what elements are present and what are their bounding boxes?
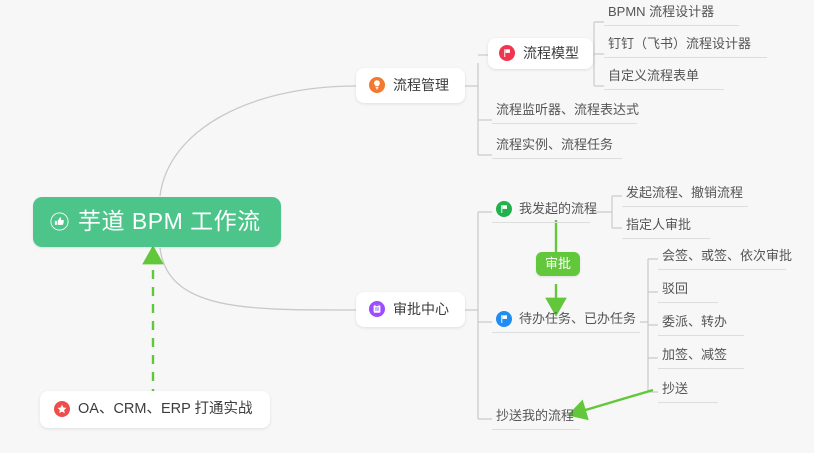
leaf-label: 抄送: [662, 382, 688, 395]
leaf-label: 指定人审批: [626, 218, 691, 231]
leaf-label: 驳回: [662, 282, 688, 295]
leaf-label: 加签、减签: [662, 348, 727, 361]
connector-root-to-branch1: [160, 86, 356, 196]
leaf-cc-to-me-processes[interactable]: 抄送我的流程: [492, 407, 580, 430]
leaf-countersign-orsign-sequential[interactable]: 会签、或签、依次审批: [658, 247, 786, 270]
leaf-listener-expression[interactable]: 流程监听器、流程表达式: [492, 101, 637, 124]
leaf-custom-process-form[interactable]: 自定义流程表单: [604, 67, 724, 90]
green-arrow-copy-to-myflow: [572, 390, 653, 414]
root-node[interactable]: 芋道 BPM 工作流: [33, 197, 281, 247]
leaf-label: 钉钉（飞书）流程设计器: [608, 37, 751, 50]
leaf-reject[interactable]: 驳回: [658, 280, 718, 303]
leaf-label: 流程监听器、流程表达式: [496, 103, 639, 116]
leaf-start-cancel-process[interactable]: 发起流程、撤销流程: [622, 184, 748, 207]
leaf-bpmn-designer[interactable]: BPMN 流程设计器: [604, 3, 739, 26]
lightbulb-icon: [369, 77, 385, 93]
leaf-dingtalk-feishu-designer[interactable]: 钉钉（飞书）流程设计器: [604, 35, 767, 58]
flag-icon: [499, 45, 515, 61]
star-icon: [54, 401, 70, 417]
branch-node-process-management[interactable]: 流程管理: [356, 68, 465, 103]
connector-root-to-branch2: [160, 248, 356, 310]
note-node-integration[interactable]: OA、CRM、ERP 打通实战: [40, 391, 270, 428]
node-label: 流程模型: [523, 46, 579, 60]
flag-icon: [496, 311, 512, 327]
thumbs-up-icon: [50, 212, 69, 231]
leaf-assigned-approver[interactable]: 指定人审批: [622, 216, 710, 239]
leaf-label: 委派、转办: [662, 315, 727, 328]
leaf-label: 会签、或签、依次审批: [662, 249, 792, 262]
leaf-cc[interactable]: 抄送: [658, 380, 718, 403]
node-label: 待办任务、已办任务: [519, 312, 636, 325]
node-todo-done-tasks[interactable]: 待办任务、已办任务: [492, 310, 640, 333]
node-process-model[interactable]: 流程模型: [488, 38, 593, 69]
branch-label: 流程管理: [393, 78, 449, 92]
leaf-add-remove-sign[interactable]: 加签、减签: [658, 346, 744, 369]
leaf-label: 自定义流程表单: [608, 69, 699, 82]
node-label: 我发起的流程: [519, 202, 597, 215]
branch-label: 审批中心: [393, 302, 449, 316]
mindmap-canvas: 芋道 BPM 工作流 流程管理 流程模型 BPMN 流程设计器 钉钉（飞书: [0, 0, 814, 453]
branch-node-approval-center[interactable]: 审批中心: [356, 292, 465, 327]
flag-icon: [496, 201, 512, 217]
leaf-delegate-transfer[interactable]: 委派、转办: [658, 313, 744, 336]
flow-tag-approval[interactable]: 审批: [536, 252, 580, 276]
root-label: 芋道 BPM 工作流: [78, 210, 261, 233]
leaf-label: 抄送我的流程: [496, 409, 574, 422]
node-my-initiated-processes[interactable]: 我发起的流程: [492, 200, 590, 223]
leaf-label: BPMN 流程设计器: [608, 5, 714, 18]
leaf-label: 发起流程、撤销流程: [626, 186, 743, 199]
leaf-instance-task[interactable]: 流程实例、流程任务: [492, 136, 622, 159]
clipboard-icon: [369, 301, 385, 317]
leaf-label: 流程实例、流程任务: [496, 138, 613, 151]
note-label: OA、CRM、ERP 打通实战: [78, 402, 253, 417]
